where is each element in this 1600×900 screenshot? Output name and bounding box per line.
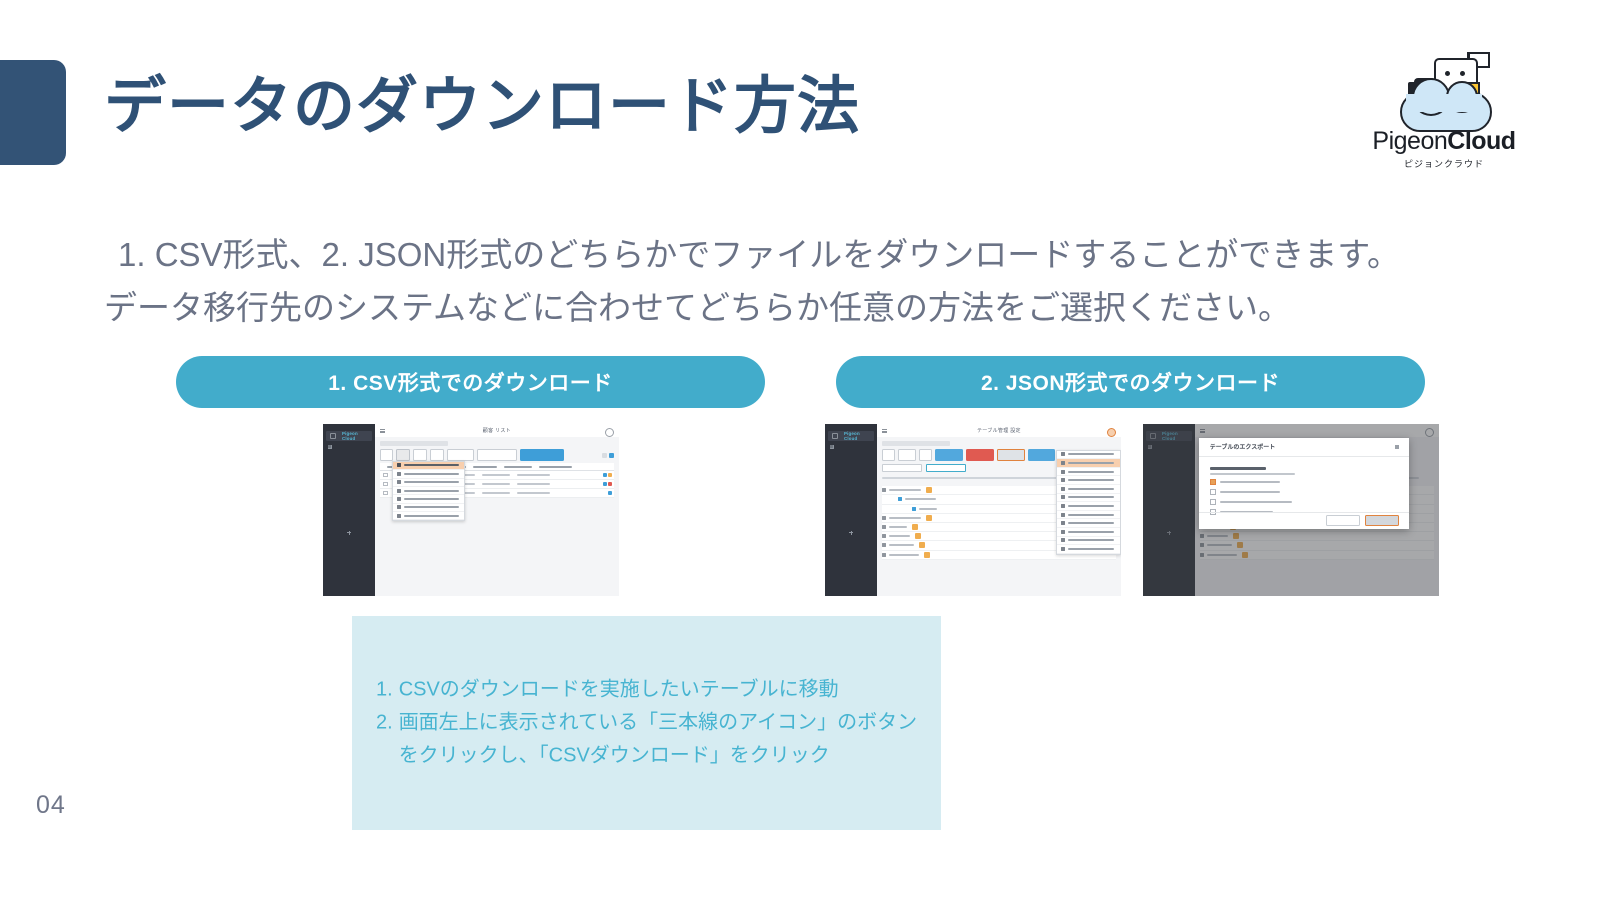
menu-item[interactable] — [1057, 519, 1120, 528]
json-method-pill: 2. JSON形式でのダウンロード — [836, 356, 1425, 408]
history-icon — [1061, 504, 1065, 508]
mini-header-title: テーブル管理 設定 — [977, 427, 1021, 434]
option-checkbox-row[interactable] — [1210, 479, 1399, 485]
mini-topbar: 顧客 リスト — [375, 424, 619, 438]
table-header-cell — [504, 466, 532, 468]
step-text: 画面左上に表示されている「三本線のアイコン」のボタンをクリックし、「CSVダウン… — [399, 707, 925, 773]
mini-sidebar-logo: Pigeon Cloud — [326, 431, 372, 441]
copy-icon — [397, 505, 401, 509]
table-manage-screenshot: Pigeon Cloud — [825, 424, 1121, 596]
mini-toolbar — [380, 450, 614, 460]
cancel-button[interactable] — [1326, 515, 1360, 526]
mini-app-name: Pigeon Cloud — [342, 431, 372, 441]
csv-screenshot: Pigeon Cloud — [323, 424, 619, 596]
menu-item[interactable] — [393, 487, 464, 495]
group-icon — [1061, 521, 1065, 525]
pigeon-eye-right-icon — [1460, 71, 1465, 76]
download-icon — [397, 463, 401, 467]
toolbar-button[interactable] — [380, 449, 394, 461]
bell-icon — [1061, 513, 1065, 517]
menu-item[interactable] — [1057, 528, 1120, 537]
pagination[interactable] — [602, 453, 614, 458]
menu-item[interactable] — [1057, 451, 1120, 460]
toolbar-button[interactable] — [882, 449, 896, 461]
step-text: CSVのダウンロードを実施したいテーブルに移動 — [399, 674, 925, 707]
user-icon[interactable] — [605, 428, 614, 437]
mini-logo-icon — [330, 433, 336, 439]
export-button[interactable] — [1365, 515, 1399, 526]
table-header-cell — [473, 466, 496, 468]
json-column: 2. JSON形式でのダウンロード Pigeon Cloud — [836, 356, 1425, 408]
check-icon — [397, 514, 401, 518]
menu-item[interactable] — [1057, 545, 1120, 554]
mini-add-icon[interactable] — [849, 531, 853, 535]
menu-item[interactable] — [393, 495, 464, 503]
checkbox-icon[interactable] — [1210, 479, 1216, 485]
option-checkbox-row[interactable] — [1210, 489, 1399, 495]
modal-section-description — [1210, 473, 1295, 475]
json-screenshot-strip: Pigeon Cloud — [836, 424, 1425, 596]
csv-dropdown-menu[interactable] — [392, 461, 465, 522]
toolbar-delete-button[interactable] — [966, 449, 994, 461]
modal-body — [1199, 457, 1409, 515]
modal-title: テーブルのエクスポート — [1210, 442, 1275, 451]
key-icon — [1061, 487, 1065, 491]
menu-item[interactable] — [393, 512, 464, 520]
menu-item-table-manage[interactable] — [1057, 459, 1120, 468]
user-dropdown-menu[interactable] — [1056, 450, 1121, 555]
print-icon — [397, 489, 401, 493]
row-checkbox[interactable] — [383, 482, 388, 487]
toolbar-button[interactable] — [919, 449, 933, 461]
menu-item[interactable] — [1057, 468, 1120, 477]
csv-screenshot-strip: Pigeon Cloud — [176, 424, 765, 596]
trash-icon — [397, 480, 401, 484]
mini-sidebar-nav — [825, 445, 877, 446]
toolbar-button[interactable] — [1028, 449, 1056, 461]
logo-subtitle: ピジョンクラウド — [1404, 157, 1484, 170]
export-modal: テーブルのエクスポート — [1199, 438, 1409, 529]
mini-add-icon[interactable] — [347, 531, 351, 535]
row-checkbox[interactable] — [383, 473, 388, 478]
toolbar-button-active[interactable] — [396, 449, 410, 461]
hamburger-icon[interactable] — [380, 429, 385, 433]
menu-item[interactable] — [1057, 502, 1120, 511]
menu-item[interactable] — [1057, 485, 1120, 494]
toolbar-search-input[interactable] — [477, 449, 517, 461]
user-icon — [1061, 452, 1065, 456]
step-number: 1. — [376, 674, 393, 707]
menu-item[interactable] — [393, 479, 464, 487]
row-checkbox[interactable] — [383, 491, 388, 496]
toolbar-primary-button[interactable] — [520, 449, 564, 461]
csv-instruction-box: 1. CSVのダウンロードを実施したいテーブルに移動 2. 画面左上に表示されて… — [352, 616, 941, 830]
lead-paragraph: 1. CSV形式、2. JSON形式のどちらかでファイルをダウンロードすることが… — [104, 228, 1504, 335]
option-checkbox-row[interactable] — [1210, 499, 1399, 505]
cloud-fill-icon — [1406, 94, 1482, 112]
hamburger-icon[interactable] — [882, 429, 887, 433]
mini-topbar: テーブル管理 設定 — [877, 424, 1121, 438]
list-item: 1. CSVのダウンロードを実施したいテーブルに移動 — [376, 674, 925, 707]
page-prev[interactable] — [602, 453, 607, 458]
lead-line-2: データ移行先のシステムなどに合わせてどちらか任意の方法をご選択ください。 — [104, 281, 1504, 334]
csv-method-pill: 1. CSV形式でのダウンロード — [176, 356, 765, 408]
checkbox-icon[interactable] — [1210, 489, 1216, 495]
menu-item[interactable] — [393, 504, 464, 512]
menu-item[interactable] — [1057, 537, 1120, 546]
mini-sidebar: Pigeon Cloud — [323, 424, 375, 596]
csv-column: 1. CSV形式でのダウンロード Pigeon Cloud — [176, 356, 765, 408]
toolbar-button[interactable] — [935, 449, 963, 461]
table-header-cell — [539, 466, 572, 468]
mail-icon — [1061, 538, 1065, 542]
user-icon[interactable] — [1107, 428, 1116, 437]
export-modal-screenshot: Pigeon Cloud — [1143, 424, 1439, 596]
mini-tabs — [882, 464, 966, 472]
modal-header: テーブルのエクスポート — [1199, 438, 1409, 457]
page-number: 04 — [36, 791, 66, 820]
mini-breadcrumb — [380, 441, 448, 446]
tab[interactable] — [882, 464, 922, 472]
pigeoncloud-logo: PigeonCloud ピジョンクラウド — [1384, 52, 1504, 170]
close-icon[interactable] — [1395, 445, 1399, 449]
menu-item[interactable] — [1057, 476, 1120, 485]
json-export-button[interactable] — [997, 449, 1025, 461]
title-accent-bar — [0, 60, 66, 165]
modal-footer — [1199, 512, 1409, 529]
lead-line-1: 1. CSV形式、2. JSON形式のどちらかでファイルをダウンロードすることが… — [104, 228, 1504, 281]
toolbar-button[interactable] — [413, 449, 427, 461]
mini-content — [375, 437, 619, 596]
toolbar-filter-button[interactable] — [447, 449, 475, 461]
pigeon-cloud-mark-icon — [1388, 52, 1500, 127]
list-item: 2. 画面左上に表示されている「三本線のアイコン」のボタンをクリックし、「CSV… — [376, 707, 925, 773]
table-icon — [1061, 461, 1065, 465]
chart-icon — [397, 497, 401, 501]
toolbar-button[interactable] — [898, 449, 915, 461]
menu-item-csv-download[interactable] — [393, 462, 464, 470]
mini-content — [877, 437, 1121, 596]
logout-icon — [1061, 547, 1065, 551]
mini-app-csv: Pigeon Cloud — [323, 424, 619, 596]
mini-sidebar-nav — [323, 445, 375, 446]
link-icon — [1061, 530, 1065, 534]
toolbar-button[interactable] — [430, 449, 444, 461]
mini-logo-icon — [832, 433, 838, 439]
mini-sidebar: Pigeon Cloud — [825, 424, 877, 596]
tab-active[interactable] — [926, 464, 966, 472]
mini-header-title: 顧客 リスト — [483, 427, 511, 434]
mini-app-name: Pigeon Cloud — [844, 431, 874, 441]
mini-sidebar-logo: Pigeon Cloud — [828, 431, 874, 441]
search-icon — [1061, 495, 1065, 499]
step-number: 2. — [376, 707, 393, 740]
mini-app-table-manage: Pigeon Cloud — [825, 424, 1121, 596]
logo-wordmark: PigeonCloud — [1372, 129, 1515, 154]
settings-icon — [1061, 470, 1065, 474]
menu-item[interactable] — [393, 470, 464, 478]
upload-icon — [397, 472, 401, 476]
csv-step-list: 1. CSVのダウンロードを実施したいテーブルに移動 2. 画面左上に表示されて… — [352, 674, 941, 773]
menu-item[interactable] — [1057, 494, 1120, 503]
menu-item[interactable] — [1057, 511, 1120, 520]
page-title: データのダウンロード方法 — [104, 74, 860, 139]
pigeon-eye-left-icon — [1445, 71, 1450, 76]
page-current[interactable] — [609, 453, 614, 458]
document-icon — [1061, 478, 1065, 482]
mini-breadcrumb — [882, 441, 950, 446]
mini-app-export-modal: Pigeon Cloud — [1143, 424, 1439, 596]
modal-section-title — [1210, 467, 1267, 470]
checkbox-icon[interactable] — [1210, 499, 1216, 505]
